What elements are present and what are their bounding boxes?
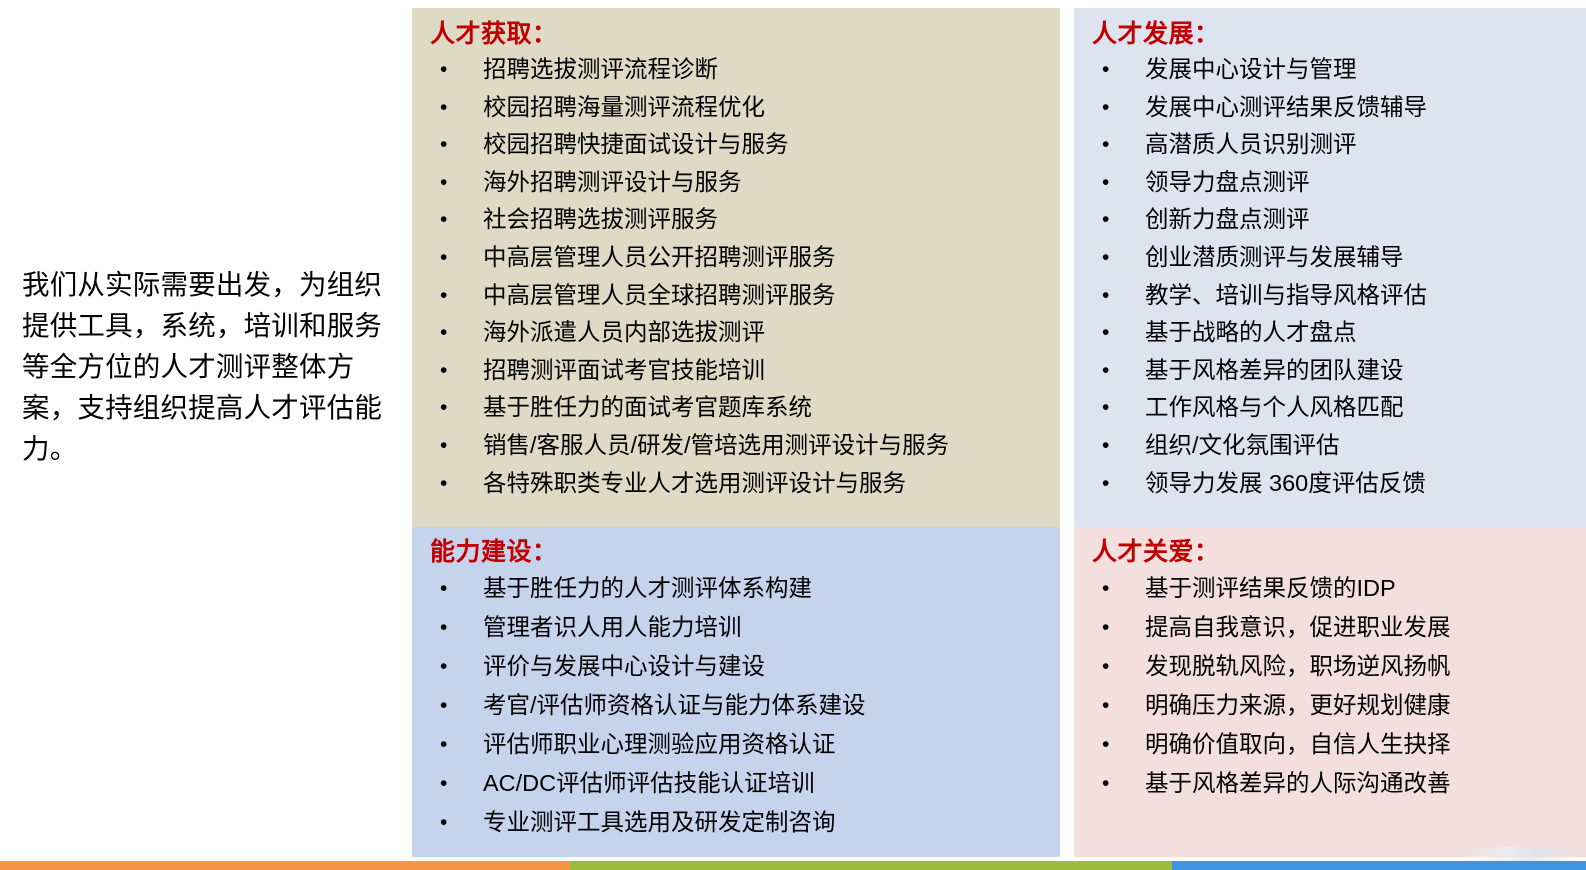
list-item: •发展中心设计与管理 [1088,51,1586,89]
list-item: •中高层管理人员全球招聘测评服务 [426,277,1060,315]
list-item-label: 校园招聘快捷面试设计与服务 [483,131,789,157]
list-item: •工作风格与个人风格匹配 [1088,389,1586,427]
bullet-dot-icon: • [440,569,447,608]
bullet-dot-icon: • [1102,201,1109,239]
list-item: •评价与发展中心设计与建设 [426,647,1060,686]
list-item: •招聘测评面试考官技能培训 [426,352,1060,390]
list-item-label: 销售/客服人员/研发/管培选用测评设计与服务 [483,432,949,458]
list-item-label: 基于风格差异的团队建设 [1145,357,1404,383]
list-item-label: 海外招聘测评设计与服务 [483,169,742,195]
bullet-dot-icon: • [440,201,447,239]
list-item-label: 基于战略的人才盘点 [1145,319,1357,345]
bullet-dot-icon: • [440,352,447,390]
bullet-dot-icon: • [1102,647,1109,686]
footer-bar-segment-blue [1172,861,1586,870]
list-item: •校园招聘快捷面试设计与服务 [426,126,1060,164]
panel-title-talent-development: 人才发展： [1092,19,1586,49]
bullet-list-talent-acquisition: •招聘选拔测评流程诊断•校园招聘海量测评流程优化•校园招聘快捷面试设计与服务•海… [426,51,1060,502]
bullet-dot-icon: • [440,89,447,127]
bullet-dot-icon: • [440,389,447,427]
list-item-label: 提高自我意识，促进职业发展 [1145,614,1451,640]
list-item: •专业测评工具选用及研发定制咨询 [426,803,1060,842]
list-item-label: 工作风格与个人风格匹配 [1145,394,1404,420]
list-item-label: 领导力发展 360度评估反馈 [1145,470,1426,496]
panel-capability-building: 能力建设： •基于胜任力的人才测评体系构建•管理者识人用人能力培训•评价与发展中… [412,527,1060,857]
bullet-dot-icon: • [440,314,447,352]
bullet-dot-icon: • [1102,352,1109,390]
list-item-label: 组织/文化氛围评估 [1145,432,1340,458]
list-item: •基于胜任力的人才测评体系构建 [426,569,1060,608]
list-item-label: 领导力盘点测评 [1145,169,1310,195]
bullet-dot-icon: • [440,126,447,164]
list-item-label: 基于风格差异的人际沟通改善 [1145,770,1451,796]
bullet-dot-icon: • [1102,314,1109,352]
list-item-label: 招聘选拔测评流程诊断 [483,56,718,82]
panel-talent-development: 人才发展： •发展中心设计与管理•发展中心测评结果反馈辅导•高潜质人员识别测评•… [1074,8,1586,527]
bullet-dot-icon: • [440,277,447,315]
bullet-dot-icon: • [1102,164,1109,202]
bullet-dot-icon: • [1102,465,1109,503]
list-item: •招聘选拔测评流程诊断 [426,51,1060,89]
list-item-label: 明确压力来源，更好规划健康 [1145,692,1451,718]
bullet-dot-icon: • [440,647,447,686]
list-item-label: 明确价值取向，自信人生抉择 [1145,731,1451,757]
list-item: •基于胜任力的面试考官题库系统 [426,389,1060,427]
list-item-label: 管理者识人用人能力培训 [483,614,742,640]
list-item-label: 海外派遣人员内部选拔测评 [483,319,765,345]
list-item: •提高自我意识，促进职业发展 [1088,608,1586,647]
bullet-dot-icon: • [440,725,447,764]
list-item: •中高层管理人员公开招聘测评服务 [426,239,1060,277]
bullet-list-talent-development: •发展中心设计与管理•发展中心测评结果反馈辅导•高潜质人员识别测评•领导力盘点测… [1088,51,1586,502]
list-item: •发展中心测评结果反馈辅导 [1088,89,1586,127]
panel-title-talent-care: 人才关爱： [1092,537,1586,567]
list-item: •基于测评结果反馈的IDP [1088,569,1586,608]
bullet-dot-icon: • [440,427,447,465]
bullet-dot-icon: • [440,51,447,89]
list-item: •AC/DC评估师评估技能认证培训 [426,764,1060,803]
list-item-label: 创业潜质测评与发展辅导 [1145,244,1404,270]
list-item: •高潜质人员识别测评 [1088,126,1586,164]
list-item-label: 基于胜任力的人才测评体系构建 [483,575,812,601]
list-item: •组织/文化氛围评估 [1088,427,1586,465]
bullet-dot-icon: • [1102,89,1109,127]
bullet-dot-icon: • [440,164,447,202]
list-item-label: 高潜质人员识别测评 [1145,131,1357,157]
bullet-list-capability-building: •基于胜任力的人才测评体系构建•管理者识人用人能力培训•评价与发展中心设计与建设… [426,569,1060,842]
list-item-label: 招聘测评面试考官技能培训 [483,357,765,383]
list-item-label: 中高层管理人员公开招聘测评服务 [483,244,836,270]
list-item-label: 发展中心测评结果反馈辅导 [1145,94,1427,120]
panel-title-talent-acquisition: 人才获取： [430,19,1060,49]
bullet-dot-icon: • [1102,569,1109,608]
bullet-dot-icon: • [440,686,447,725]
list-item: •明确价值取向，自信人生抉择 [1088,725,1586,764]
list-item-label: 考官/评估师资格认证与能力体系建设 [483,692,866,718]
bullet-list-talent-care: •基于测评结果反馈的IDP•提高自我意识，促进职业发展•发现脱轨风险，职场逆风扬… [1088,569,1586,803]
bullet-dot-icon: • [1102,686,1109,725]
bullet-dot-icon: • [1102,51,1109,89]
list-item: •基于风格差异的人际沟通改善 [1088,764,1586,803]
list-item: •领导力盘点测评 [1088,164,1586,202]
panel-title-capability-building: 能力建设： [430,537,1060,567]
list-item: •明确压力来源，更好规划健康 [1088,686,1586,725]
list-item: •创业潜质测评与发展辅导 [1088,239,1586,277]
list-item-label: 专业测评工具选用及研发定制咨询 [483,809,836,835]
list-item-label: 中高层管理人员全球招聘测评服务 [483,282,836,308]
list-item-label: 评价与发展中心设计与建设 [483,653,765,679]
list-item: •教学、培训与指导风格评估 [1088,277,1586,315]
footer-bar-segment-green [570,861,1172,870]
list-item: •管理者识人用人能力培训 [426,608,1060,647]
list-item: •发现脱轨风险，职场逆风扬帆 [1088,647,1586,686]
bullet-dot-icon: • [1102,764,1109,803]
list-item: •海外招聘测评设计与服务 [426,164,1060,202]
bullet-dot-icon: • [1102,126,1109,164]
list-item-label: 创新力盘点测评 [1145,206,1310,232]
list-item: •考官/评估师资格认证与能力体系建设 [426,686,1060,725]
bullet-dot-icon: • [440,608,447,647]
list-item: •评估师职业心理测验应用资格认证 [426,725,1060,764]
list-item: •创新力盘点测评 [1088,201,1586,239]
panel-talent-acquisition: 人才获取： •招聘选拔测评流程诊断•校园招聘海量测评流程优化•校园招聘快捷面试设… [412,8,1060,527]
list-item: •海外派遣人员内部选拔测评 [426,314,1060,352]
list-item: •校园招聘海量测评流程优化 [426,89,1060,127]
bullet-dot-icon: • [440,465,447,503]
list-item-label: 发现脱轨风险，职场逆风扬帆 [1145,653,1451,679]
bullet-dot-icon: • [440,239,447,277]
list-item-label: 校园招聘海量测评流程优化 [483,94,765,120]
footer-bar-segment-orange [0,861,570,870]
list-item-label: 发展中心设计与管理 [1145,56,1357,82]
list-item: •销售/客服人员/研发/管培选用测评设计与服务 [426,427,1060,465]
list-item: •各特殊职类专业人才选用测评设计与服务 [426,465,1060,503]
panel-talent-care: 人才关爱： •基于测评结果反馈的IDP•提高自我意识，促进职业发展•发现脱轨风险… [1074,527,1586,857]
bullet-dot-icon: • [1102,277,1109,315]
list-item-label: 评估师职业心理测验应用资格认证 [483,731,836,757]
footer-watermark-logo [1460,847,1580,861]
list-item: •基于风格差异的团队建设 [1088,352,1586,390]
slide-canvas: 我们从实际需要出发，为组织提供工具，系统，培训和服务等全方位的人才测评整体方案，… [0,0,1586,870]
footer-accent-bar [0,861,1586,870]
list-item-label: 基于测评结果反馈的IDP [1145,575,1396,601]
list-item-label: 基于胜任力的面试考官题库系统 [483,394,812,420]
bullet-dot-icon: • [440,764,447,803]
bullet-dot-icon: • [1102,427,1109,465]
list-item: •领导力发展 360度评估反馈 [1088,465,1586,503]
list-item: •社会招聘选拔测评服务 [426,201,1060,239]
list-item-label: AC/DC评估师评估技能认证培训 [483,770,815,796]
bullet-dot-icon: • [1102,608,1109,647]
list-item: •基于战略的人才盘点 [1088,314,1586,352]
bullet-dot-icon: • [440,803,447,842]
bullet-dot-icon: • [1102,389,1109,427]
list-item-label: 各特殊职类专业人才选用测评设计与服务 [483,470,906,496]
bullet-dot-icon: • [1102,239,1109,277]
intro-paragraph: 我们从实际需要出发，为组织提供工具，系统，培训和服务等全方位的人才测评整体方案，… [22,264,392,469]
bullet-dot-icon: • [1102,725,1109,764]
list-item-label: 社会招聘选拔测评服务 [483,206,718,232]
list-item-label: 教学、培训与指导风格评估 [1145,282,1427,308]
